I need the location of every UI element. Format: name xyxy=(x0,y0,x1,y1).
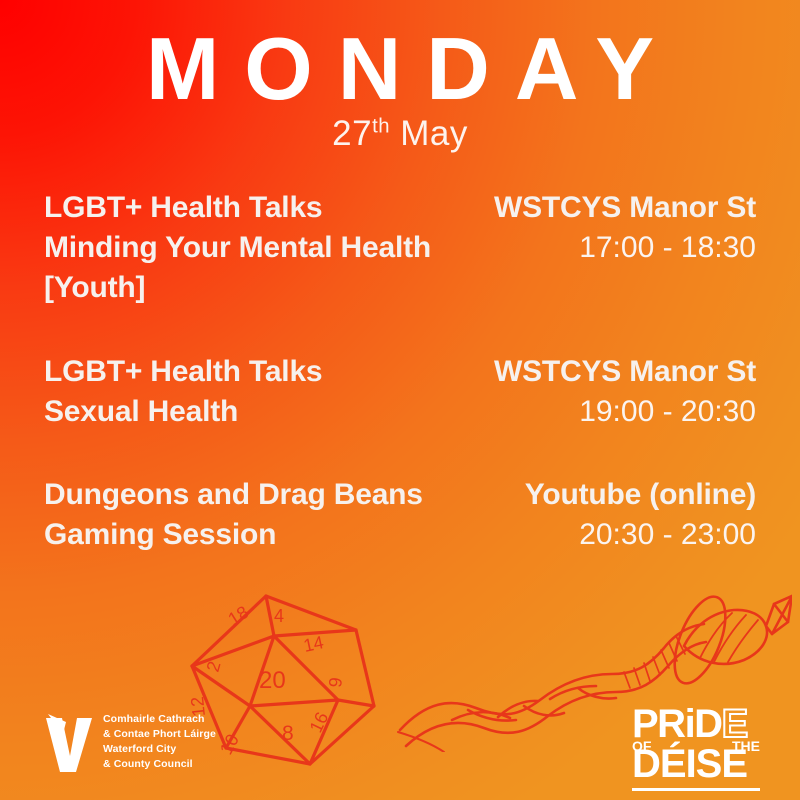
event-time: 17:00 - 18:30 xyxy=(579,228,756,268)
event-item: LGBT+ Health Talks WSTCYS Manor St Mindi… xyxy=(44,188,756,308)
council-line-1: Comhairle Cathrach xyxy=(103,712,216,727)
pride-mid-row: OF THE xyxy=(632,739,760,753)
event-title: LGBT+ Health Talks xyxy=(44,352,322,392)
event-row-title: Dungeons and Drag Beans Youtube (online) xyxy=(44,475,756,515)
event-row-extra: [Youth] xyxy=(44,268,756,308)
event-row-subtitle: Sexual Health 19:00 - 20:30 xyxy=(44,392,756,432)
waterford-council-logo: Comhairle Cathrach & Contae Phort Láirge… xyxy=(46,712,216,772)
svg-text:16: 16 xyxy=(306,709,333,736)
event-time: 20:30 - 23:00 xyxy=(579,515,756,555)
event-row-title: LGBT+ Health Talks WSTCYS Manor St xyxy=(44,352,756,392)
date-month: May xyxy=(400,114,468,153)
svg-text:4: 4 xyxy=(274,606,284,626)
svg-text:20: 20 xyxy=(259,667,286,694)
event-poster: 18 4 14 2 20 9 8 12 10 16 xyxy=(0,0,800,800)
svg-text:10: 10 xyxy=(216,731,243,758)
event-item: LGBT+ Health Talks WSTCYS Manor St Sexua… xyxy=(44,352,756,432)
poster-header: MONDAY 27th May xyxy=(0,26,800,154)
pride-label-of: OF xyxy=(632,739,651,753)
council-line-3: Waterford City xyxy=(103,742,216,757)
svg-text:9: 9 xyxy=(325,676,346,688)
event-time: 19:00 - 20:30 xyxy=(579,392,756,432)
event-row-subtitle: Minding Your Mental Health 17:00 - 18:30 xyxy=(44,228,756,268)
day-title: MONDAY xyxy=(0,26,800,112)
event-row-title: LGBT+ Health Talks WSTCYS Manor St xyxy=(44,188,756,228)
svg-text:18: 18 xyxy=(225,602,253,630)
event-venue: WSTCYS Manor St xyxy=(494,188,756,228)
schedule-list: LGBT+ Health Talks WSTCYS Manor St Mindi… xyxy=(44,188,756,555)
event-venue: WSTCYS Manor St xyxy=(494,352,756,392)
date-line: 27th May xyxy=(0,114,800,154)
event-subtitle: Gaming Session xyxy=(44,515,276,555)
council-line-2: & Contae Phort Láirge xyxy=(103,727,216,742)
council-chevron-icon xyxy=(46,712,92,772)
event-extra: [Youth] xyxy=(44,268,145,308)
svg-text:8: 8 xyxy=(282,722,294,745)
date-number: 27 xyxy=(332,114,372,153)
event-title: LGBT+ Health Talks xyxy=(44,188,322,228)
event-item: Dungeons and Drag Beans Youtube (online)… xyxy=(44,475,756,555)
svg-text:14: 14 xyxy=(302,632,326,656)
council-logo-text: Comhairle Cathrach & Contae Phort Láirge… xyxy=(103,712,216,772)
date-ordinal: th xyxy=(372,116,390,138)
council-line-4: & County Council xyxy=(103,757,216,772)
event-title: Dungeons and Drag Beans xyxy=(44,475,423,515)
pride-label-the: THE xyxy=(732,739,760,753)
event-row-subtitle: Gaming Session 20:30 - 23:00 xyxy=(44,515,756,555)
event-subtitle: Sexual Health xyxy=(44,392,238,432)
svg-text:2: 2 xyxy=(203,659,225,674)
pride-of-the-deise-logo: PRiDE OF THE DÉISE xyxy=(632,706,760,791)
event-venue: Youtube (online) xyxy=(525,475,756,515)
event-subtitle: Minding Your Mental Health xyxy=(44,228,431,268)
pride-underline-rule xyxy=(632,788,760,791)
